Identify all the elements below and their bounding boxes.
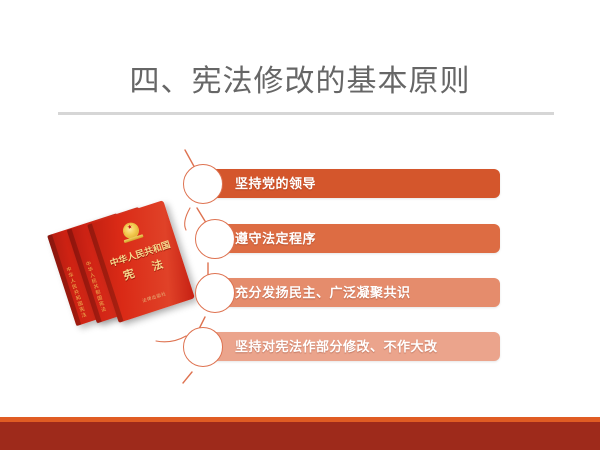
principle-node-circle-2[interactable] <box>195 219 235 259</box>
principle-row[interactable]: 坚持对宪法作部分修改、不作大改 <box>205 332 500 361</box>
principle-node-circle-3[interactable] <box>195 273 235 313</box>
principle-node-circle-1[interactable] <box>183 164 223 204</box>
national-emblem-icon: ★ <box>117 218 144 244</box>
book-publisher-label: 法律出版社 <box>122 284 188 310</box>
principle-node-circle-4[interactable] <box>183 327 223 367</box>
principle-row[interactable]: 遵守法定程序 <box>205 224 500 253</box>
footer-band <box>0 422 600 450</box>
principle-row[interactable]: 坚持党的领导 <box>205 169 500 198</box>
page-title: 四、宪法修改的基本原则 <box>0 62 600 102</box>
slide-canvas: 四、宪法修改的基本原则 中华人民共和国宪法 中华人民共和国宪法 ★ 中华人民共和… <box>0 0 600 450</box>
title-block: 四、宪法修改的基本原则 <box>0 62 600 102</box>
constitution-books-image: 中华人民共和国宪法 中华人民共和国宪法 ★ 中华人民共和国 宪 法 法律出版社 <box>58 198 203 343</box>
principle-row[interactable]: 充分发扬民主、广泛凝聚共识 <box>205 278 500 307</box>
principle-label: 坚持对宪法作部分修改、不作大改 <box>235 332 438 361</box>
principle-label: 遵守法定程序 <box>235 224 316 253</box>
title-divider <box>58 112 554 115</box>
principle-label: 坚持党的领导 <box>235 169 316 198</box>
connector-line-bottom <box>183 372 192 383</box>
principle-label: 充分发扬民主、广泛凝聚共识 <box>235 278 411 307</box>
